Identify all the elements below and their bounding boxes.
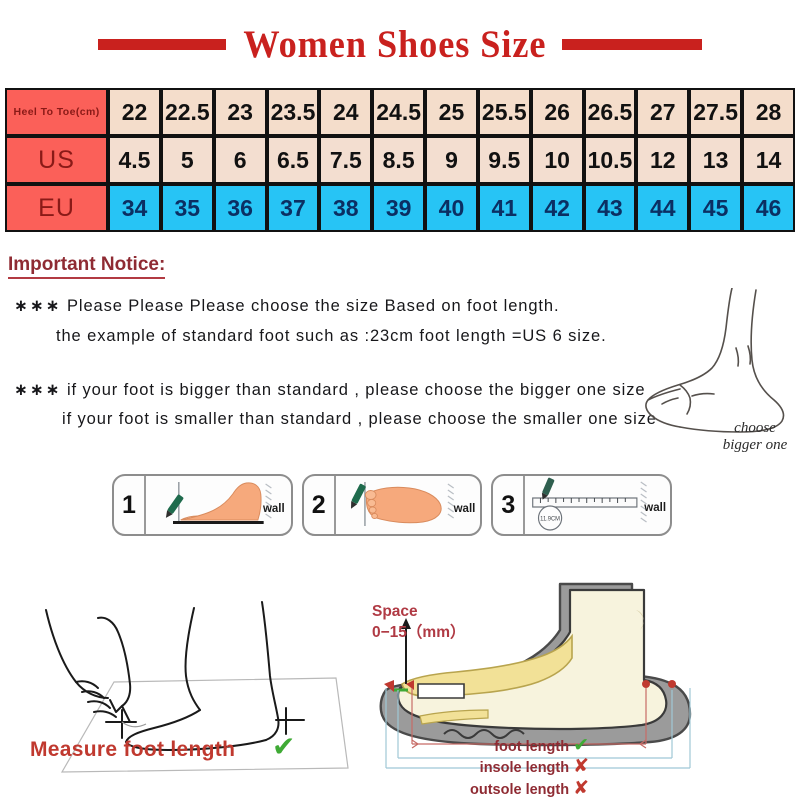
step-panel-1: 1 wall — [112, 474, 293, 536]
foot-side-sketch-icon — [640, 288, 795, 438]
cell-eu: 42 — [531, 184, 584, 232]
cell-eu: 36 — [214, 184, 267, 232]
step-2-illustration: wall — [336, 476, 481, 534]
notice-line-1: ∗∗∗ Please Please Please choose the size… — [14, 295, 559, 317]
step-number: 1 — [114, 476, 146, 534]
cell-cm: 22.5 — [161, 88, 214, 136]
cell-eu: 44 — [636, 184, 689, 232]
step-number: 2 — [304, 476, 336, 534]
notice-text: Please Please Please choose the size Bas… — [67, 297, 560, 315]
cell-cm: 25 — [425, 88, 478, 136]
cell-us: 9.5 — [478, 136, 531, 184]
important-notice-heading: Important Notice: — [8, 255, 165, 279]
length-definition-labels: foot length ✔ insole length ✘ outsole le… — [470, 736, 589, 800]
cell-eu: 41 — [478, 184, 531, 232]
notice-stars: ∗∗∗ — [14, 297, 61, 315]
cell-eu: 34 — [108, 184, 161, 232]
notice-line-4: if your foot is smaller than standard , … — [62, 408, 657, 430]
ruler-reading-text: 11.9CM — [541, 516, 561, 522]
cell-us: 10.5 — [584, 136, 637, 184]
space-gap-label: Space 0−15（mm） — [372, 602, 465, 644]
title-bar-left — [98, 39, 226, 50]
cell-cm: 22 — [108, 88, 161, 136]
space-label-line2: 0−15（mm） — [372, 623, 465, 644]
cell-us: 13 — [689, 136, 742, 184]
cell-us: 14 — [742, 136, 795, 184]
cell-cm: 27.5 — [689, 88, 742, 136]
cell-cm: 23.5 — [267, 88, 320, 136]
space-label-line1: Space — [372, 602, 465, 623]
label-insole-length: insole length — [480, 760, 569, 776]
page-title-row: Women Shoes Size — [0, 18, 800, 70]
foot-length-check-icon: ✔ — [573, 735, 589, 756]
wall-label: wall — [454, 503, 476, 515]
row-label-us: US — [5, 136, 108, 184]
outsole-length-cross-icon: ✘ — [573, 778, 589, 799]
label-outsole-length: outsole length — [470, 782, 569, 798]
cell-cm: 28 — [742, 88, 795, 136]
cell-eu: 45 — [689, 184, 742, 232]
measure-check-icon: ✔ — [272, 733, 295, 761]
row-label-heel-to-toe: Heel To Toe(cm) — [5, 88, 108, 136]
insole-length-cross-icon: ✘ — [573, 756, 589, 777]
cell-eu: 38 — [319, 184, 372, 232]
choose-caption-line2: bigger one — [700, 437, 800, 454]
cell-cm: 26 — [531, 88, 584, 136]
cell-cm: 24.5 — [372, 88, 425, 136]
cell-cm: 26.5 — [584, 88, 637, 136]
notice-stars: ∗∗∗ — [14, 381, 61, 399]
cell-eu: 39 — [372, 184, 425, 232]
cell-eu: 40 — [425, 184, 478, 232]
cell-cm: 25.5 — [478, 88, 531, 136]
table-row-eu: EU 34 35 36 37 38 39 40 41 42 43 44 45 4… — [5, 184, 795, 232]
label-insole-length-row: insole length ✘ — [470, 757, 589, 778]
cell-us: 8.5 — [372, 136, 425, 184]
cell-us: 12 — [636, 136, 689, 184]
cell-us: 6 — [214, 136, 267, 184]
size-chart-page: Women Shoes Size Heel To Toe(cm) 22 22.5… — [0, 0, 800, 800]
wall-label: wall — [263, 503, 285, 515]
cell-us: 5 — [161, 136, 214, 184]
cell-us: 6.5 — [267, 136, 320, 184]
label-foot-length-row: foot length ✔ — [470, 736, 589, 757]
step-panel-3: 3 11.9CM — [491, 474, 672, 536]
cell-cm: 27 — [636, 88, 689, 136]
choose-caption-line1: choose — [700, 420, 800, 437]
cell-us: 4.5 — [108, 136, 161, 184]
measurement-steps: 1 wall — [112, 474, 672, 536]
title-bar-right — [562, 39, 702, 50]
cell-us: 10 — [531, 136, 584, 184]
cell-cm: 23 — [214, 88, 267, 136]
notice-line-2: the example of standard foot such as :23… — [56, 325, 607, 347]
size-conversion-table: Heel To Toe(cm) 22 22.5 23 23.5 24 24.5 … — [5, 88, 795, 232]
label-foot-length: foot length — [494, 739, 569, 755]
wall-label: wall — [644, 502, 666, 514]
notice-line-3: ∗∗∗ if your foot is bigger than standard… — [14, 379, 645, 401]
cell-cm: 24 — [319, 88, 372, 136]
step-1-illustration: wall — [146, 476, 291, 534]
step-number: 3 — [493, 476, 525, 534]
cell-eu: 37 — [267, 184, 320, 232]
cell-eu: 43 — [584, 184, 637, 232]
cell-eu: 35 — [161, 184, 214, 232]
measure-foot-length-caption: Measure foot length — [30, 738, 235, 762]
table-row-us: US 4.5 5 6 6.5 7.5 8.5 9 9.5 10 10.5 12 … — [5, 136, 795, 184]
notice-text: if your foot is smaller than standard , … — [62, 410, 657, 428]
notice-text: if your foot is bigger than standard , p… — [67, 381, 645, 399]
table-row-cm: Heel To Toe(cm) 22 22.5 23 23.5 24 24.5 … — [5, 88, 795, 136]
row-label-eu: EU — [5, 184, 108, 232]
label-outsole-length-row: outsole length ✘ — [470, 779, 589, 800]
cell-us: 9 — [425, 136, 478, 184]
step-3-illustration: 11.9CM wall — [525, 476, 670, 534]
page-title: Women Shoes Size — [243, 25, 546, 64]
cell-eu: 46 — [742, 184, 795, 232]
cell-us: 7.5 — [319, 136, 372, 184]
choose-bigger-one-caption: choose bigger one — [700, 420, 800, 455]
notice-text: the example of standard foot such as :23… — [56, 327, 607, 345]
step-panel-2: 2 — [302, 474, 483, 536]
